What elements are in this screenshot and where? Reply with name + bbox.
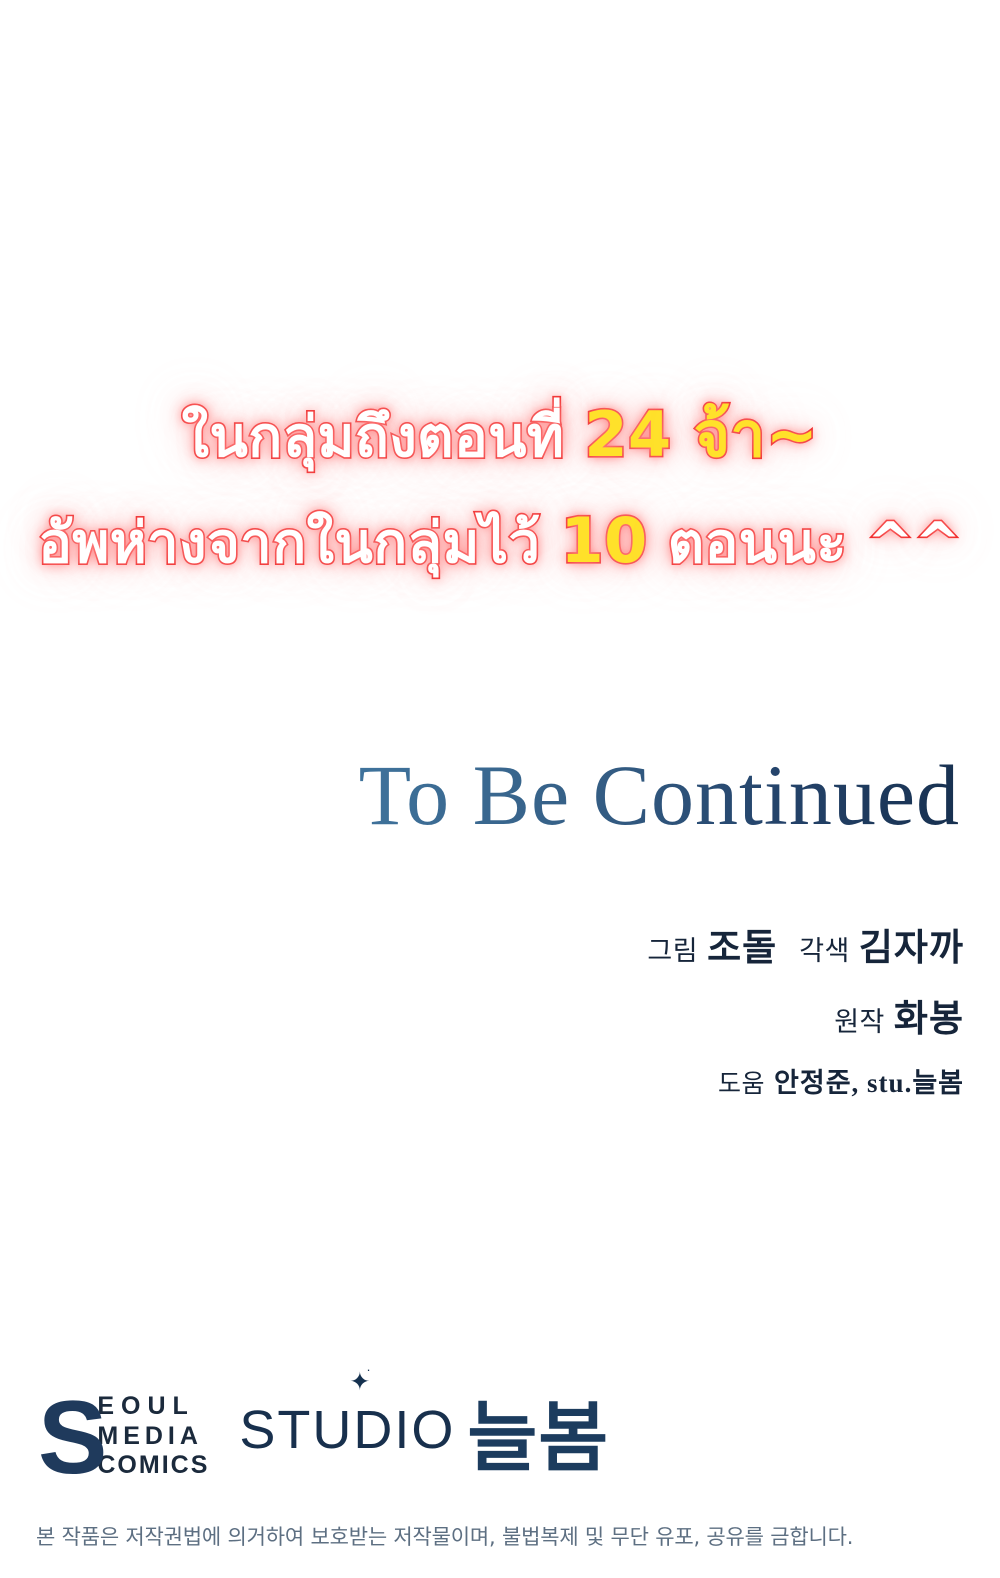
thai-line1-suffix: จ้า~ (672, 398, 819, 471)
credit-label-assist: 도움 (718, 1071, 765, 1098)
credit-name-original: 화봉 (894, 999, 964, 1040)
thai-line2-text: อัพห่างจากในกลุ่มไว้ (38, 511, 560, 576)
seoul-media-comics-logo: S EOUL MEDIA COMICS (38, 1392, 209, 1481)
logo-line-comics: COMICS (97, 1451, 209, 1481)
credit-name-assist: 안정준, stu.늘봄 (774, 1068, 964, 1098)
studio-wordmark: STUDIO (239, 1403, 455, 1457)
thai-announcement-line-2: อัพห่างจากในกลุ่มไว้ 10 ตอนนะ ^^ (0, 510, 1000, 572)
credit-name-adaptation: 김자까 (859, 928, 964, 969)
logo-line-seoul: EOUL (97, 1392, 209, 1422)
logo-line-media: MEDIA (97, 1422, 209, 1452)
credit-row-original: 원작화봉 (264, 1001, 964, 1038)
seoul-media-comics-wordmark: EOUL MEDIA COMICS (97, 1392, 209, 1481)
publisher-logos: S EOUL MEDIA COMICS STUDIO ✦ · 늘봄 (38, 1392, 609, 1481)
credit-name-art: 조돌 (707, 928, 777, 969)
thai-line2-suffix: ตอนนะ ^^ (648, 511, 962, 576)
thai-line1-text: ในกลุ่มถึงตอนที่ (182, 405, 585, 470)
credit-row-art: 그림조돌각색김자까 (264, 930, 964, 967)
credit-row-assist: 도움안정준, stu.늘봄 (264, 1070, 964, 1097)
star-accent-dot: · (366, 1363, 370, 1376)
to-be-continued-title: To Be Continued (359, 752, 960, 838)
seoul-media-comics-initial: S (38, 1398, 103, 1479)
studio-neulbom-logo: STUDIO ✦ · 늘봄 (239, 1398, 609, 1474)
thai-announcement-line-1: ในกลุ่มถึงตอนที่ 24 จ้า~ (0, 404, 1000, 466)
thai-announcement: ในกลุ่มถึงตอนที่ 24 จ้า~ อัพห่างจากในกลุ… (0, 404, 1000, 572)
credit-label-original: 원작 (834, 1007, 885, 1037)
sparkle-star-icon: ✦ · (349, 1370, 370, 1395)
credit-label-adaptation: 각색 (799, 936, 850, 966)
thai-line2-episode-gap: 10 (561, 504, 648, 577)
thai-line1-episode-number: 24 (584, 398, 671, 471)
credits-block: 그림조돌각색김자까 원작화봉 도움안정준, stu.늘봄 (264, 930, 964, 1097)
studio-neulbom-name: 늘봄 (467, 1400, 609, 1476)
copyright-notice: 본 작품은 저작권법에 의거하여 보호받는 저작물이며, 불법복제 및 무단 유… (36, 1524, 853, 1551)
page-root: { "announcement": { "line1": { "segments… (0, 0, 1000, 1578)
credit-label-art: 그림 (647, 936, 698, 966)
